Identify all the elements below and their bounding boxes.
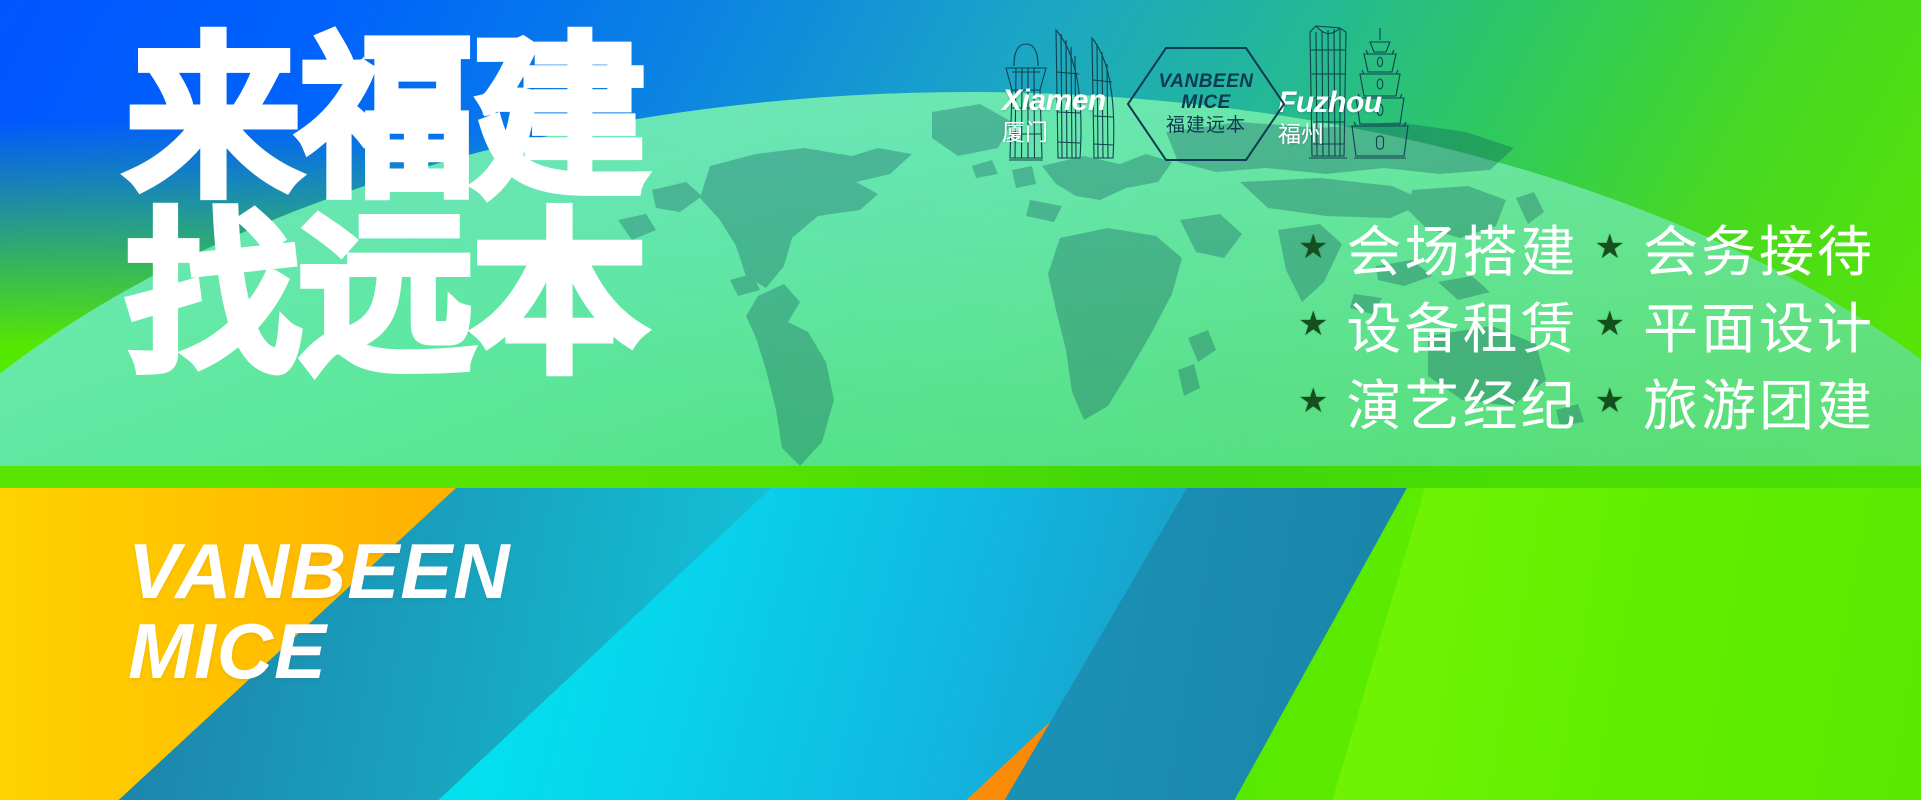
brand-wordmark-line-2: MICE: [128, 614, 511, 688]
star-icon: ★: [1595, 384, 1625, 418]
hero-panel: 来福建 找远本 ★ 会场搭建 ★ 会务接待 ★ 设备租赁 ★ 平面设计 ★: [0, 0, 1921, 466]
service-label: 会场搭建: [1346, 207, 1578, 287]
star-icon: ★: [1595, 230, 1625, 264]
city-name-cn: 厦门: [1002, 119, 1106, 148]
stripe-green-2: [1330, 488, 1921, 800]
service-list: ★ 会场搭建 ★ 会务接待 ★ 设备租赁 ★ 平面设计 ★ 演艺经纪 ★ 旅游团…: [1298, 208, 1875, 439]
city-name-cn: 福州: [1278, 121, 1382, 150]
star-icon: ★: [1298, 307, 1328, 341]
service-item-graphic-design: ★ 平面设计: [1595, 285, 1876, 362]
hexmark-line-3: 福建远本: [1166, 115, 1246, 136]
city-label-xiamen: Xiamen 厦门: [1002, 86, 1106, 148]
service-label: 平面设计: [1643, 284, 1875, 364]
hexmark-line-1: VANBEEN: [1159, 72, 1254, 93]
service-label: 旅游团建: [1643, 361, 1875, 441]
city-label-fuzhou: Fuzhou 福州: [1278, 88, 1382, 150]
brand-wordmark-line-1: VANBEEN: [128, 527, 511, 615]
service-item-venue-setup: ★ 会场搭建: [1298, 208, 1579, 285]
brand-hexagon-mark: VANBEEN MICE 福建远本: [1124, 44, 1288, 164]
city-badges: Xiamen 厦门 VANBEEN MICE 福建远本: [996, 6, 1416, 176]
brand-wordmark: VANBEEN MICE: [128, 534, 511, 688]
service-label: 设备租赁: [1346, 284, 1578, 364]
star-icon: ★: [1595, 307, 1625, 341]
page-title: 来福建 找远本: [126, 36, 645, 382]
service-item-tour-teambuilding: ★ 旅游团建: [1595, 362, 1876, 439]
city-name-en: Fuzhou: [1278, 88, 1382, 118]
green-divider: [0, 466, 1921, 488]
service-label: 会务接待: [1643, 207, 1875, 287]
hexmark-line-2: MICE: [1181, 93, 1231, 114]
headline-line-1: 来福建: [126, 36, 645, 206]
service-item-performance-agency: ★ 演艺经纪: [1298, 362, 1579, 439]
city-badge-xiamen: Xiamen 厦门: [996, 12, 1116, 170]
footer-stripe-bar: VANBEEN MICE: [0, 488, 1921, 800]
star-icon: ★: [1298, 230, 1328, 264]
headline-line-2: 找远本: [126, 212, 645, 382]
service-label: 演艺经纪: [1346, 361, 1578, 441]
star-icon: ★: [1298, 384, 1328, 418]
city-badge-fuzhou: Fuzhou 福州: [1294, 10, 1422, 170]
promo-banner: 来福建 找远本 ★ 会场搭建 ★ 会务接待 ★ 设备租赁 ★ 平面设计 ★: [0, 0, 1921, 800]
city-name-en: Xiamen: [1002, 86, 1106, 116]
service-item-conference-reception: ★ 会务接待: [1595, 208, 1876, 285]
service-item-equipment-rental: ★ 设备租赁: [1298, 285, 1579, 362]
